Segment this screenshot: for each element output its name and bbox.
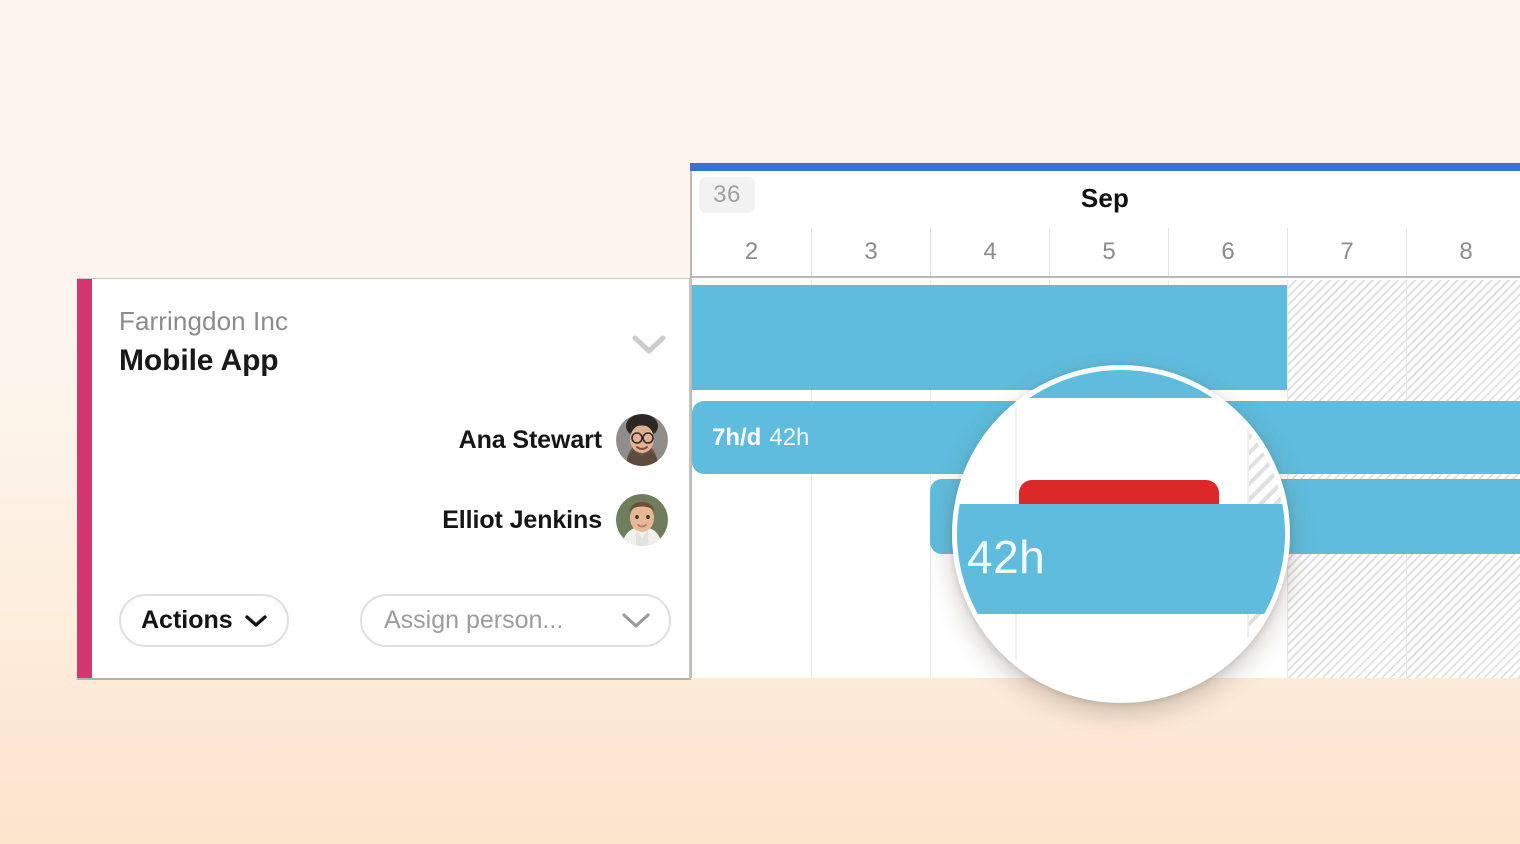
project-company-name: Farringdon Inc xyxy=(119,306,288,337)
project-card: Farringdon Inc Mobile App Ana Stewart xyxy=(77,278,691,680)
month-label: Sep xyxy=(690,183,1520,214)
task-bar-rate: 7h/d xyxy=(712,424,761,451)
chevron-down-icon xyxy=(245,614,267,628)
magnified-task-bar-above xyxy=(952,365,1290,398)
assignee-name: Elliot Jenkins xyxy=(442,506,602,535)
chevron-down-icon xyxy=(632,334,666,356)
assign-person-select[interactable]: Assign person... xyxy=(360,594,671,647)
day-header-cell[interactable]: 7 xyxy=(1287,228,1406,276)
chevron-down-icon xyxy=(621,611,651,630)
day-header-cell[interactable]: 5 xyxy=(1049,228,1168,276)
day-header-cell[interactable]: 4 xyxy=(930,228,1049,276)
assignee-row[interactable]: Elliot Jenkins xyxy=(442,494,668,546)
project-accent-bar xyxy=(77,279,92,678)
day-header-cell[interactable]: 8 xyxy=(1406,228,1520,276)
collapse-project-button[interactable] xyxy=(625,327,673,363)
task-bar-row-2-label: 7h/d42h xyxy=(692,424,809,452)
ana-stewart-avatar[interactable] xyxy=(616,414,668,466)
magnified-hours-value: 42h xyxy=(967,530,1045,584)
actions-button-label: Actions xyxy=(141,606,233,635)
day-header-row: 2 3 4 5 6 7 8 xyxy=(692,228,1520,278)
assignee-row[interactable]: Ana Stewart xyxy=(459,414,668,466)
magnifier-lens: 42h xyxy=(952,365,1290,703)
day-header-cell[interactable]: 3 xyxy=(811,228,930,276)
elliot-jenkins-avatar[interactable] xyxy=(616,494,668,546)
day-header-cell[interactable]: 2 xyxy=(692,228,811,276)
assignee-name: Ana Stewart xyxy=(459,426,602,455)
day-header-cell[interactable]: 6 xyxy=(1168,228,1287,276)
assign-person-placeholder: Assign person... xyxy=(384,606,563,635)
task-bar-hours: 42h xyxy=(769,424,809,451)
actions-button[interactable]: Actions xyxy=(119,594,289,647)
task-bar-row-3-right[interactable] xyxy=(1287,479,1520,554)
gantt-accent-strip xyxy=(690,163,1520,171)
magnifier-content: 42h xyxy=(957,370,1285,698)
project-title: Mobile App xyxy=(119,344,279,378)
